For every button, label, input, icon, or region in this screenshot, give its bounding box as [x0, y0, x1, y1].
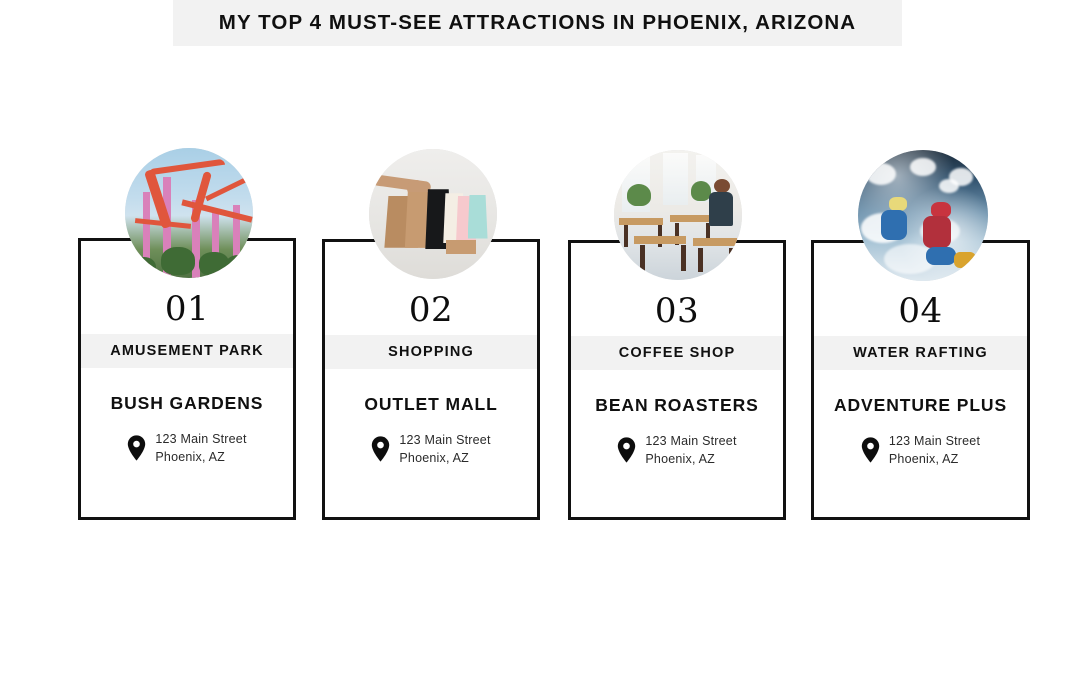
address-line-2-04: Phoenix, AZ [889, 450, 980, 468]
attraction-card-list: 01 AMUSEMENT PARK BUSH GARDENS 123 Main … [0, 0, 1080, 675]
attraction-card-body-01: 01 AMUSEMENT PARK BUSH GARDENS 123 Main … [81, 292, 293, 466]
attraction-business-name-04: ADVENTURE PLUS [814, 395, 1027, 416]
white-water-rafting-illustration [858, 150, 988, 281]
attraction-address-02: 123 Main Street Phoenix, AZ [325, 431, 537, 467]
location-pin-icon [127, 435, 146, 461]
attraction-card-body-04: 04 WATER RAFTING ADVENTURE PLUS 123 Main… [814, 294, 1027, 468]
address-line-2-02: Phoenix, AZ [399, 449, 490, 467]
attraction-number-02: 02 [325, 293, 537, 327]
location-pin-icon [371, 436, 390, 462]
attraction-number-03: 03 [571, 294, 783, 328]
attraction-photo-04 [858, 150, 988, 281]
attraction-number-01: 01 [81, 292, 293, 326]
address-line-1-01: 123 Main Street [155, 430, 246, 448]
address-line-1-02: 123 Main Street [399, 431, 490, 449]
attraction-card-body-02: 02 SHOPPING OUTLET MALL 123 Main Street … [325, 293, 537, 467]
attraction-photo-03 [614, 150, 742, 280]
attraction-number-04: 04 [814, 294, 1027, 328]
attraction-category-band-01: AMUSEMENT PARK [81, 334, 293, 368]
cafe-interior-illustration [614, 150, 742, 280]
attraction-category-02: SHOPPING [388, 344, 474, 360]
address-line-2-01: Phoenix, AZ [155, 448, 246, 466]
attraction-business-name-03: BEAN ROASTERS [571, 395, 783, 416]
attraction-business-name-01: BUSH GARDENS [81, 393, 293, 414]
attraction-category-01: AMUSEMENT PARK [110, 343, 264, 359]
attraction-category-03: COFFEE SHOP [619, 345, 736, 361]
attraction-card-body-03: 03 COFFEE SHOP BEAN ROASTERS 123 Main St… [571, 294, 783, 468]
attraction-address-04: 123 Main Street Phoenix, AZ [814, 432, 1027, 468]
attraction-category-band-04: WATER RAFTING [814, 336, 1027, 370]
attraction-address-lines-03: 123 Main Street Phoenix, AZ [645, 432, 736, 468]
attraction-category-band-02: SHOPPING [325, 335, 537, 369]
attraction-address-lines-01: 123 Main Street Phoenix, AZ [155, 430, 246, 466]
attraction-photo-02 [369, 149, 497, 279]
roller-coaster-illustration [125, 148, 253, 278]
location-pin-icon [617, 437, 636, 463]
location-pin-icon [861, 437, 880, 463]
attraction-category-band-03: COFFEE SHOP [571, 336, 783, 370]
attraction-address-lines-04: 123 Main Street Phoenix, AZ [889, 432, 980, 468]
attraction-address-lines-02: 123 Main Street Phoenix, AZ [399, 431, 490, 467]
attraction-address-01: 123 Main Street Phoenix, AZ [81, 430, 293, 466]
attraction-business-name-02: OUTLET MALL [325, 394, 537, 415]
attraction-photo-01 [125, 148, 253, 278]
shopping-bags-illustration [369, 149, 497, 279]
address-line-1-04: 123 Main Street [889, 432, 980, 450]
attraction-category-04: WATER RAFTING [853, 345, 988, 361]
attraction-address-03: 123 Main Street Phoenix, AZ [571, 432, 783, 468]
address-line-2-03: Phoenix, AZ [645, 450, 736, 468]
address-line-1-03: 123 Main Street [645, 432, 736, 450]
